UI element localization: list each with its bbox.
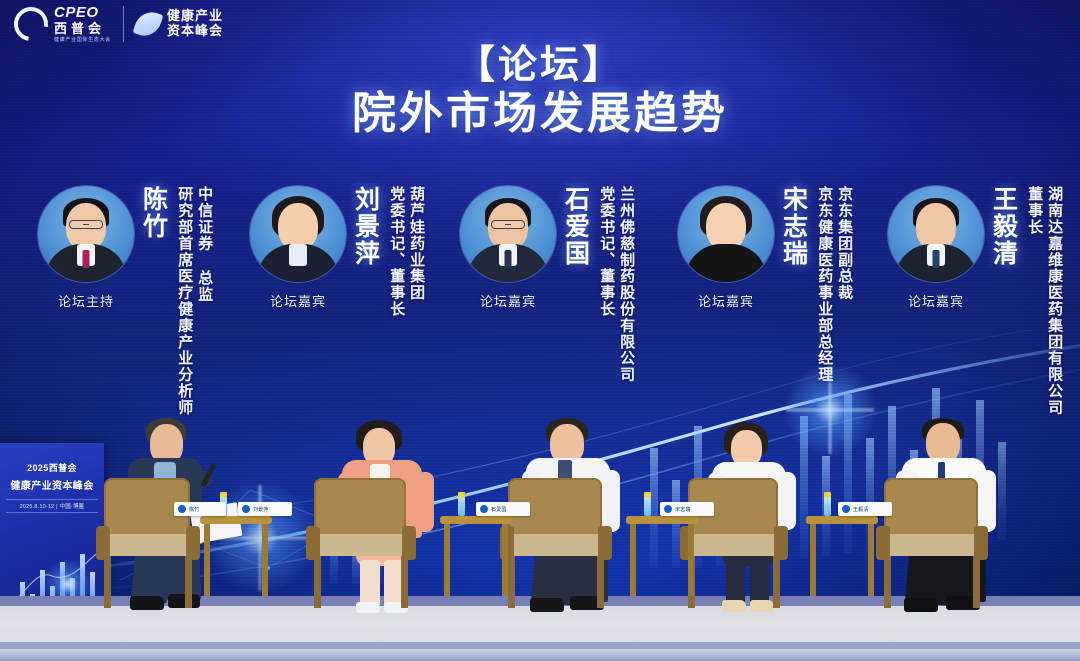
- panelist-role-3: 论坛嘉宾: [698, 291, 754, 310]
- panelist-card-1: 论坛嘉宾 刘景萍 葫芦娃药业集团 党委书记、董事长: [248, 186, 424, 317]
- panelist-titles-4: 湖南达嘉维康医药集团有限公司 董事长: [1023, 186, 1063, 416]
- forum-title-block: 【论坛】 院外市场发展趋势: [0, 46, 1080, 140]
- nameplate-logo-icon-1: [242, 505, 250, 513]
- water-bottle-1: [458, 492, 465, 516]
- summit-logo: 健康产业 资本峰会: [136, 9, 223, 39]
- panelist-titles-3: 京东集团副总裁 京东健康医药事业部总经理: [813, 186, 853, 383]
- panelist-title-1-0: 葫芦娃药业集团: [407, 186, 424, 317]
- side-table-3: 王毅清: [806, 516, 878, 600]
- conference-stage-photo: CPEO 西普会 健康产业国际生态大会 健康产业 资本峰会 【论坛】 院外市场发…: [0, 0, 1080, 661]
- panelist-title-3-1: 京东健康医药事业部总经理: [816, 186, 833, 383]
- nameplate-logo-icon-4: [842, 505, 850, 513]
- panelist-titles-0: 中信证券 总监 研究部首席医疗健康产业分析师: [173, 186, 213, 416]
- side-table-0: 陈竹 刘景萍: [200, 516, 272, 600]
- stage-front-edge: [0, 642, 1080, 649]
- panelist-avatar-1: [250, 186, 346, 282]
- cpeo-logo-subtitle: 健康产业国际生态大会: [54, 38, 111, 43]
- panelist-avatar-2: [460, 186, 556, 282]
- panelist-avatar-4: [888, 186, 984, 282]
- panelist-title-0-0: 中信证券 总监: [195, 186, 212, 416]
- panelist-title-3-0: 京东集团副总裁: [835, 186, 852, 383]
- panelist-card-3: 论坛嘉宾 宋志瑞 京东集团副总裁 京东健康医药事业部总经理: [676, 186, 852, 383]
- panelist-title-0-1: 研究部首席医疗健康产业分析师: [176, 186, 193, 416]
- panelist-titles-2: 兰州佛慈制药股份有限公司 党委书记、董事长: [595, 186, 635, 383]
- logo-divider: [123, 6, 124, 42]
- nameplate-text-0: 陈竹: [189, 506, 199, 513]
- chair-0: [96, 478, 200, 608]
- summit-logo-line2: 资本峰会: [167, 24, 223, 39]
- panelist-card-2: 论坛嘉宾 石爱国 兰州佛慈制药股份有限公司 党委书记、董事长: [458, 186, 634, 383]
- panelist-title-2-0: 兰州佛慈制药股份有限公司: [617, 186, 634, 383]
- panelist-card-4: 论坛嘉宾 王毅清 湖南达嘉维康医药集团有限公司 董事长: [886, 186, 1062, 416]
- panelist-title-1-1: 党委书记、董事长: [388, 186, 405, 317]
- panelist-role-0: 论坛主持: [58, 291, 114, 310]
- panelist-avatar-3: [678, 186, 774, 282]
- panelist-avatar-0: [38, 186, 134, 282]
- nameplate-logo-icon-0: [178, 505, 186, 513]
- nameplate-1: 刘景萍: [238, 502, 292, 516]
- nameplate-text-2: 石爱国: [491, 506, 507, 513]
- leaf-icon: [133, 8, 164, 40]
- nameplate-3: 宋志瑞: [660, 502, 714, 516]
- side-table-2: 宋志瑞: [626, 516, 698, 600]
- panelist-role-4: 论坛嘉宾: [908, 291, 964, 310]
- forum-title-line2: 院外市场发展趋势: [0, 89, 1080, 140]
- nameplate-logo-icon-2: [480, 505, 488, 513]
- chair-1: [306, 478, 416, 608]
- panelist-title-4-0: 湖南达嘉维康医药集团有限公司: [1045, 186, 1062, 416]
- water-bottle-3: [824, 492, 831, 516]
- panelist-name-0: 陈竹: [140, 186, 167, 240]
- forum-title-line1: 【论坛】: [0, 46, 1080, 87]
- panelist-role-2: 论坛嘉宾: [480, 291, 536, 310]
- side-table-1: 石爱国: [440, 516, 512, 600]
- panelist-title-4-1: 董事长: [1026, 186, 1043, 416]
- nameplate-text-1: 刘景萍: [253, 506, 269, 513]
- panelist-card-0: 论坛主持 陈竹 中信证券 总监 研究部首席医疗健康产业分析师: [36, 186, 212, 416]
- nameplate-text-3: 宋志瑞: [675, 506, 691, 513]
- panelist-name-1: 刘景萍: [352, 186, 379, 267]
- nameplate-2: 石爱国: [476, 502, 530, 516]
- nameplate-4: 王毅清: [838, 502, 892, 516]
- panelist-titles-1: 葫芦娃药业集团 党委书记、董事长: [385, 186, 425, 317]
- nameplate-0: 陈竹: [174, 502, 226, 516]
- panelist-role-1: 论坛嘉宾: [270, 291, 326, 310]
- panelist-name-2: 石爱国: [562, 186, 589, 267]
- panelist-lineup: 论坛主持 陈竹 中信证券 总监 研究部首席医疗健康产业分析师 论坛嘉宾 刘景萍 …: [0, 186, 1080, 431]
- stage-panel-scene: 陈竹 刘景萍: [0, 400, 1080, 640]
- panelist-name-4: 王毅清: [990, 186, 1017, 267]
- cpeo-logo-en: CPEO: [54, 5, 111, 20]
- cpeo-logo-cn: 西普会: [54, 22, 111, 35]
- summit-logo-line1: 健康产业: [167, 9, 223, 24]
- glasses-icon-2: [491, 220, 525, 229]
- panelist-name-3: 宋志瑞: [780, 186, 807, 267]
- chair-4: [876, 478, 988, 608]
- circle-logo-icon: [7, 0, 54, 47]
- water-bottle-2: [644, 492, 651, 516]
- cpeo-logo: CPEO 西普会 健康产业国际生态大会: [14, 5, 111, 43]
- panelist-title-2-1: 党委书记、董事长: [598, 186, 615, 383]
- chair-2: [500, 478, 612, 608]
- glasses-icon-0: [69, 220, 103, 229]
- nameplate-logo-icon-3: [664, 505, 672, 513]
- event-logo-bar: CPEO 西普会 健康产业国际生态大会 健康产业 资本峰会: [14, 5, 223, 43]
- nameplate-text-4: 王毅清: [853, 506, 869, 513]
